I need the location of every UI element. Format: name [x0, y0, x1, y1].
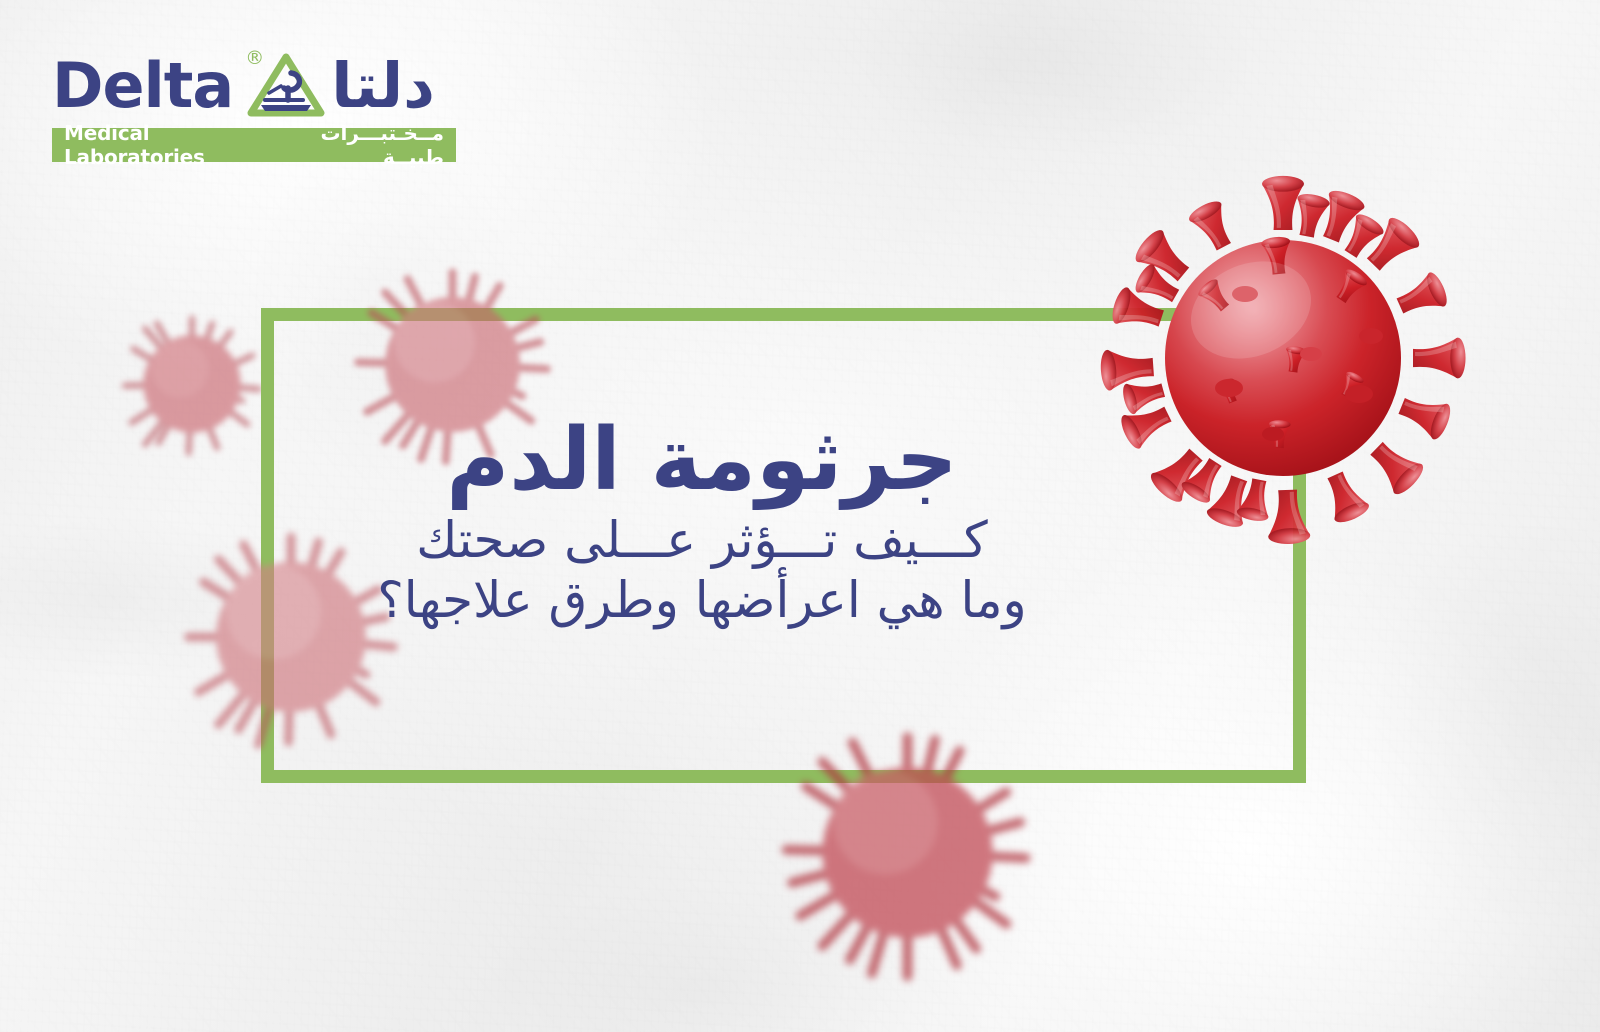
poster-canvas: Delta ® دلتا Medical Laboratories [0, 0, 1600, 1032]
registered-trademark-icon: ® [245, 49, 264, 68]
logo-wordmark-en: Delta [52, 55, 233, 117]
logo-top-row: Delta ® دلتا [52, 50, 472, 122]
virus-blur-icon [108, 300, 276, 468]
subtitle-line-2: وما هي اعرأضها وطرق علاجها؟ [352, 568, 1052, 632]
logo-tagline-en: Medical Laboratories [64, 121, 273, 169]
headline-block: جرثومة الدم كـــيف تـــؤثر عـــلى صحتك و… [352, 412, 1052, 632]
logo-tagline-ar: مــخـتبـــرات طبيــة [273, 121, 444, 169]
subtitle-line-1: كـــيف تـــؤثر عـــلى صحتك [352, 508, 1052, 572]
logo-wordmark-ar: دلتا [331, 55, 435, 117]
microscope-triangle-icon: ® [247, 53, 325, 119]
page-title: جرثومة الدم [352, 412, 1052, 508]
logo-tagline-bar: Medical Laboratories مــخـتبـــرات طبيــ… [52, 128, 456, 162]
brand-logo[interactable]: Delta ® دلتا Medical Laboratories [52, 50, 472, 162]
